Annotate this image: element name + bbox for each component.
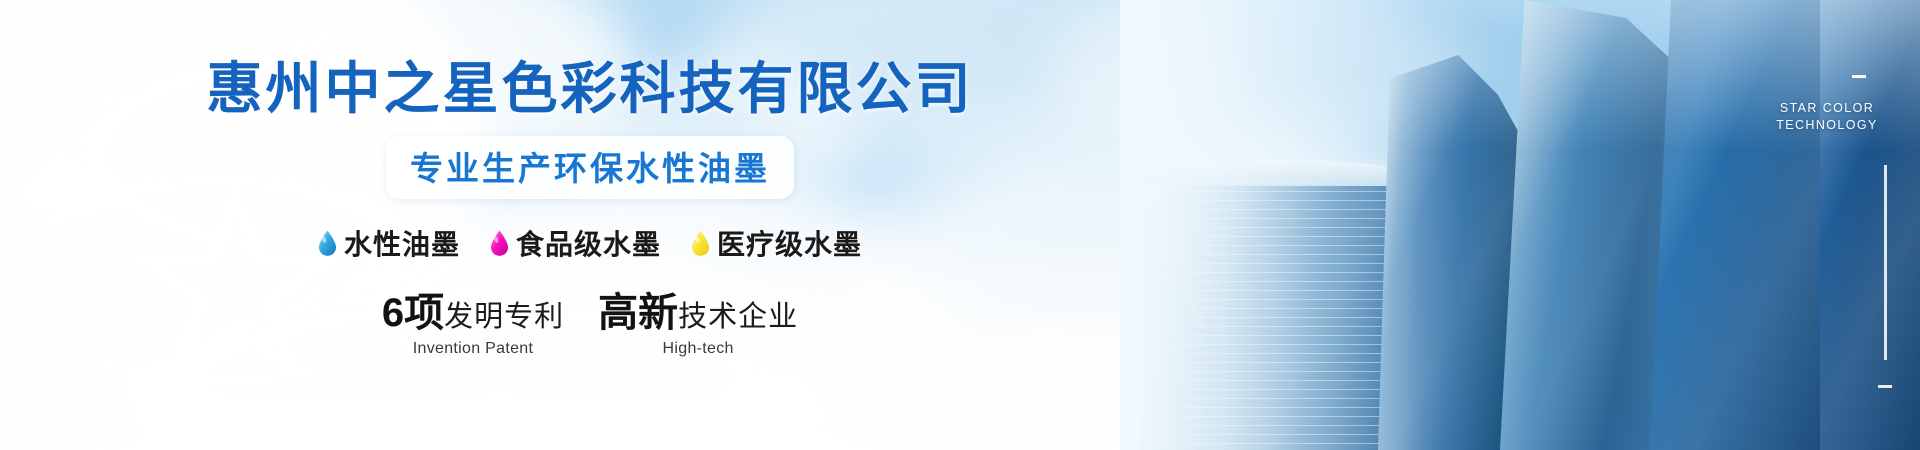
badge-headline: 高新技术企业 — [598, 293, 798, 333]
water-drop-icon — [691, 230, 710, 256]
feature-label: 医疗级水墨 — [717, 223, 862, 263]
marker-vertical-line — [1884, 165, 1887, 360]
badge-strong-text: 6项 — [382, 291, 444, 335]
badge-item: 6项发明专利 Invention Patent — [382, 293, 564, 358]
water-drop-icon — [490, 230, 509, 256]
badge-item: 高新技术企业 High-tech — [598, 293, 798, 358]
badge-english-text: High-tech — [598, 340, 798, 358]
banner-content: 惠州中之星色彩科技有限公司 专业生产环保水性油墨 — [0, 0, 1180, 450]
feature-label: 食品级水墨 — [516, 223, 661, 263]
city-skyline-image — [1120, 0, 1920, 450]
feature-label: 水性油墨 — [344, 223, 460, 263]
subtitle-pill: 专业生产环保水性油墨 — [386, 136, 794, 199]
tech-overlay-line2: TECHNOLOGY — [1772, 117, 1882, 134]
badge-rest-text: 技术企业 — [678, 301, 798, 333]
badge-strong-text: 高新 — [598, 291, 678, 335]
marker-tick-bottom — [1878, 385, 1892, 388]
star-color-technology-overlay: STAR COLOR TECHNOLOGY — [1772, 100, 1882, 134]
badge-list: 6项发明专利 Invention Patent 高新技术企业 High-tech — [382, 293, 798, 358]
company-headline: 惠州中之星色彩科技有限公司 — [207, 60, 974, 119]
badge-headline: 6项发明专利 — [382, 293, 564, 333]
subtitle-text: 专业生产环保水性油墨 — [410, 142, 770, 190]
feature-item: 水性油墨 — [318, 223, 460, 263]
badge-rest-text: 发明专利 — [444, 301, 564, 333]
badge-english-text: Invention Patent — [382, 340, 564, 358]
feature-list: 水性油墨 食品级水墨 — [318, 223, 862, 263]
tech-overlay-line1: STAR COLOR — [1772, 100, 1882, 117]
water-drop-icon — [318, 230, 337, 256]
feature-item: 食品级水墨 — [490, 223, 661, 263]
promo-banner: Star Color STAR COLOR TECHNOLOGY 惠州中之 — [0, 0, 1920, 450]
marker-tick-top — [1852, 75, 1866, 78]
feature-item: 医疗级水墨 — [691, 223, 862, 263]
